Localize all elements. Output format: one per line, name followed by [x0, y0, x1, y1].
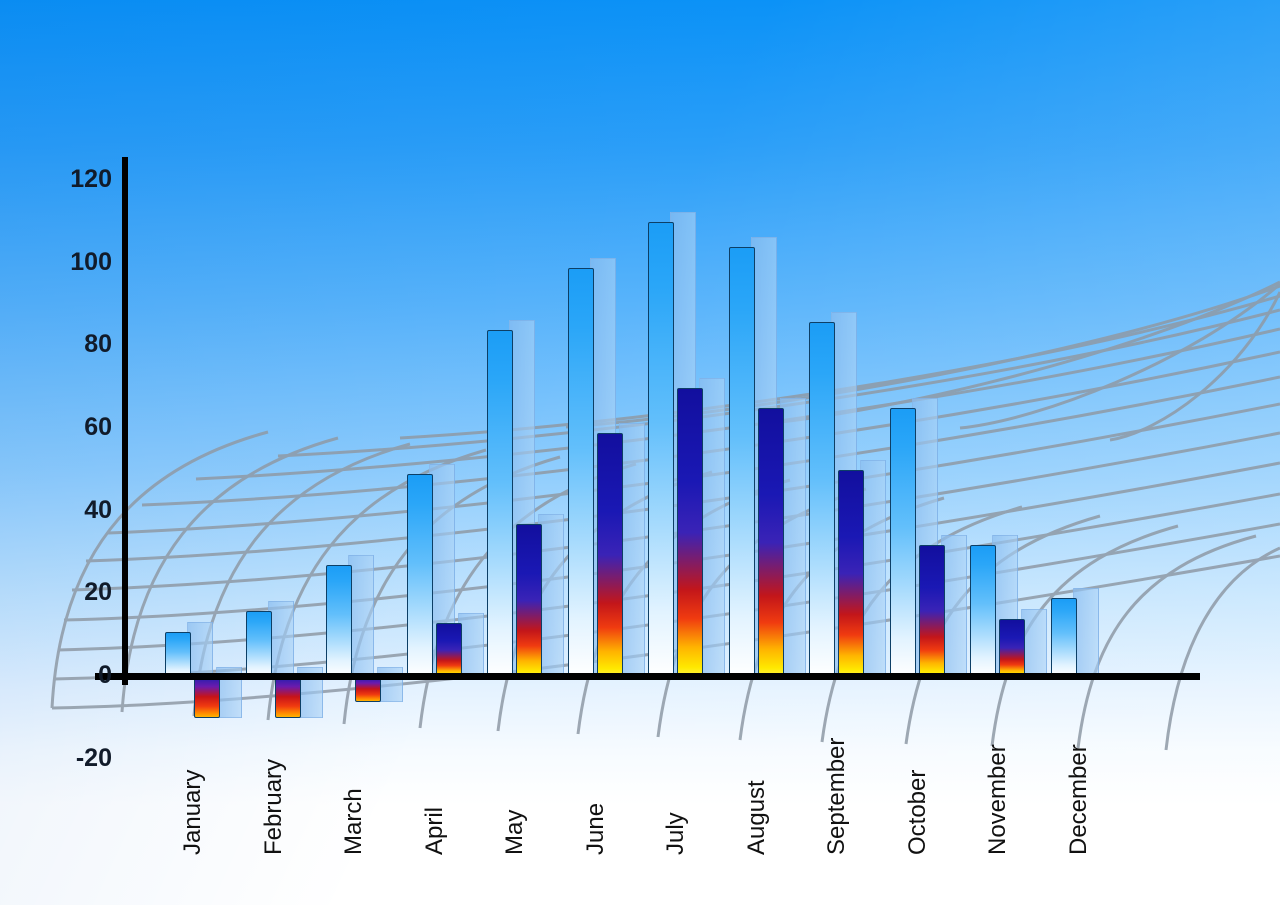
bar-front-face: [326, 565, 352, 677]
x-label-december: December: [1065, 744, 1093, 855]
y-tick-minus20: -20: [42, 744, 112, 773]
y-tick-120: 120: [42, 165, 112, 194]
y-tick-40: 40: [42, 496, 112, 525]
bar-front-face: [970, 545, 996, 677]
bar-front-face: [436, 623, 462, 677]
y-tick-80: 80: [42, 330, 112, 359]
chart-canvas: 120100806040200-20 JanuaryFebruaryMarchA…: [0, 0, 1280, 905]
x-label-march: March: [340, 788, 368, 855]
bar-front-face: [355, 677, 381, 702]
bar-front-face: [568, 268, 594, 677]
bar-front-face: [999, 619, 1025, 677]
bar-front-face: [597, 433, 623, 677]
bar-front-face: [677, 388, 703, 677]
bar-front-face: [516, 524, 542, 677]
bar-front-face: [1051, 598, 1077, 677]
bar-front-face: [648, 222, 674, 677]
bar-front-face: [890, 408, 916, 677]
bar-front-face: [407, 474, 433, 677]
x-label-january: January: [179, 770, 207, 855]
bar-front-face: [809, 322, 835, 677]
bar-front-face: [194, 677, 220, 718]
bar-front-face: [758, 408, 784, 677]
y-tick-0: 0: [42, 661, 112, 690]
bar-front-face: [729, 247, 755, 677]
x-label-july: July: [662, 812, 690, 855]
y-tick-100: 100: [42, 248, 112, 277]
bar-front-face: [165, 632, 191, 677]
x-label-june: June: [582, 803, 610, 855]
bar-front-face: [838, 470, 864, 677]
x-label-august: August: [743, 780, 771, 855]
x-label-april: April: [421, 807, 449, 855]
bar-front-face: [487, 330, 513, 677]
x-axis: [95, 673, 1200, 680]
x-label-may: May: [501, 810, 529, 855]
x-label-november: November: [984, 744, 1012, 855]
bar-front-face: [919, 545, 945, 677]
bar-front-face: [275, 677, 301, 718]
y-axis: [122, 157, 128, 685]
y-tick-60: 60: [42, 413, 112, 442]
y-tick-20: 20: [42, 578, 112, 607]
x-label-september: September: [823, 738, 851, 855]
bar-front-face: [246, 611, 272, 677]
x-label-october: October: [904, 770, 932, 855]
x-label-february: February: [260, 759, 288, 855]
